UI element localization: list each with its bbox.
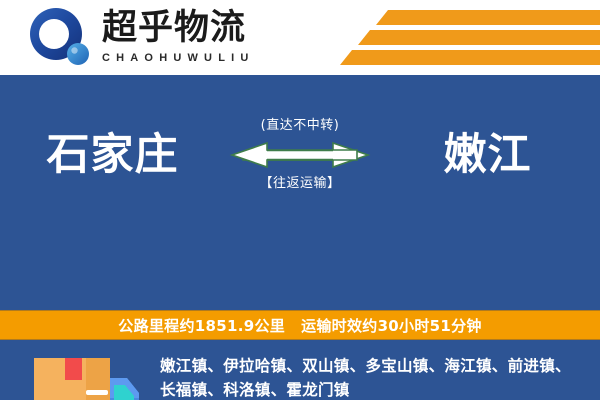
origin-city: 石家庄 <box>0 130 225 180</box>
main-blue-panel: 石家庄 (直达不中转) 【往返运输】 <box>0 75 600 400</box>
brand-name-en: CHAOHUWULIU <box>102 51 255 65</box>
speed-stripes-icon <box>330 8 600 70</box>
delivery-truck-icon <box>24 352 146 400</box>
brand-text-block: 超乎物流 CHAOHUWULIU <box>102 6 255 65</box>
coverage-row: 嫩江镇、伊拉哈镇、双山镇、多宝山镇、海江镇、前进镇、长福镇、科洛镇、霍龙门镇 <box>0 340 600 400</box>
direct-route-caption: (直达不中转) <box>261 117 340 135</box>
round-trip-caption: 【往返运输】 <box>259 175 340 193</box>
banner-header: 超乎物流 CHAOHUWULIU <box>0 0 600 75</box>
route-row: 石家庄 (直达不中转) 【往返运输】 <box>0 75 600 235</box>
double-headed-arrow-icon <box>225 138 375 172</box>
brand-name-cn: 超乎物流 <box>102 8 255 48</box>
brand-logo-group: 超乎物流 CHAOHUWULIU <box>26 6 255 68</box>
distance-label: 公路里程约1851.9公里 <box>118 315 285 336</box>
covered-towns-list: 嫩江镇、伊拉哈镇、双山镇、多宝山镇、海江镇、前进镇、长福镇、科洛镇、霍龙门镇 <box>160 354 585 400</box>
route-info-bar: 公路里程约1851.9公里 运输时效约30小时51分钟 <box>0 310 600 340</box>
circle-q-logo-icon <box>26 6 92 68</box>
duration-label: 运输时效约30小时51分钟 <box>301 315 482 336</box>
destination-city: 嫩江 <box>375 130 600 180</box>
route-arrow-block: (直达不中转) 【往返运输】 <box>225 101 375 209</box>
logistics-route-banner: 超乎物流 CHAOHUWULIU 石家庄 (直达不中转) <box>0 0 600 400</box>
